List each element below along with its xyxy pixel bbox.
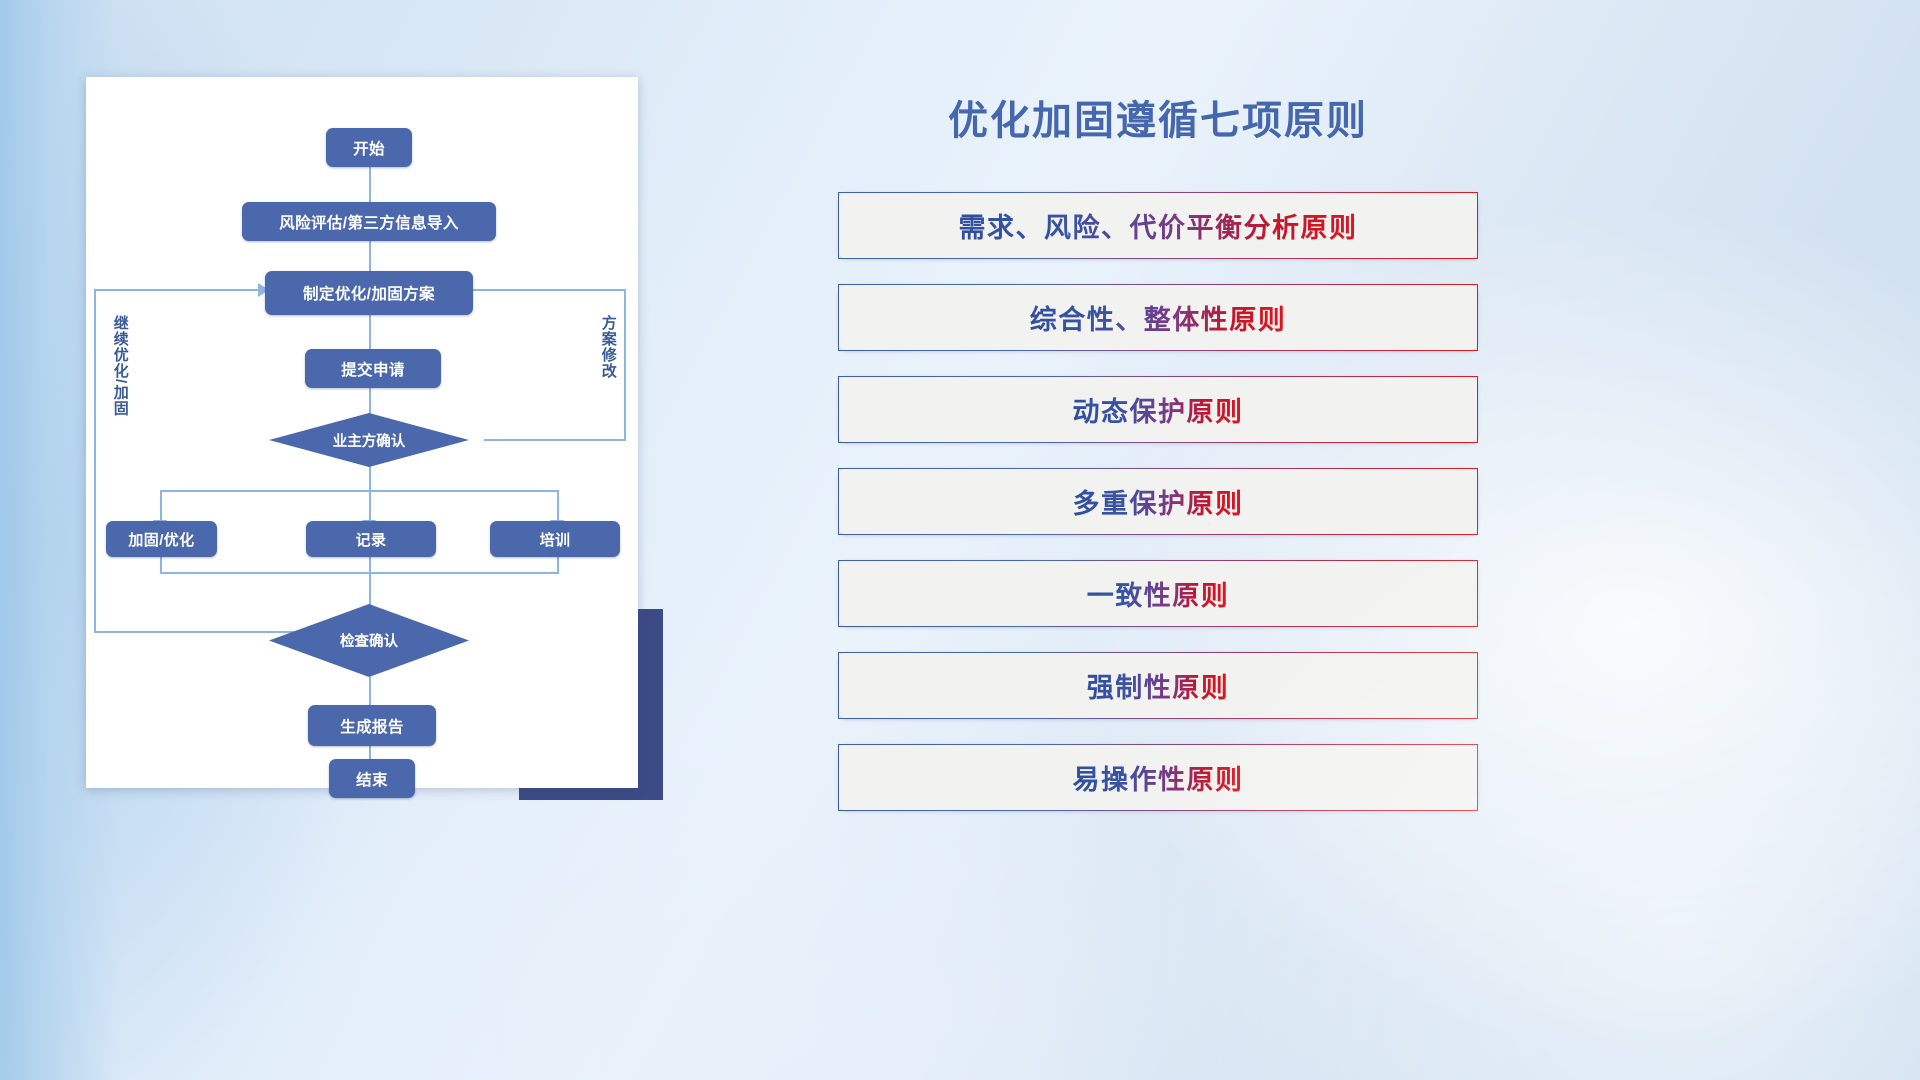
flow-node-owner-confirm-label: 业主方确认 <box>333 430 406 451</box>
principle-item[interactable]: 一致性原则 <box>838 560 1478 627</box>
edge-label-right-loop: 方案修改 <box>600 315 616 425</box>
edge-label-left-loop: 继续优化/加固 <box>112 315 128 445</box>
principles-list: 需求、风险、代价平衡分析原则 综合性、整体性原则 动态保护原则 多重保护原则 一… <box>838 192 1478 836</box>
flowchart-canvas: 继续优化/加固 方案修改 开始 风险评估/第三方信息导入 制定优化/加固方案 提… <box>86 77 638 788</box>
principle-label: 一致性原则 <box>1087 574 1230 613</box>
principles-title: 优化加固遵循七项原则 <box>838 88 1478 146</box>
flow-node-reinforce[interactable]: 加固/优化 <box>106 521 217 557</box>
principle-item[interactable]: 动态保护原则 <box>838 376 1478 443</box>
connector-merge-bus <box>160 572 559 574</box>
flow-node-submit[interactable]: 提交申请 <box>305 349 441 388</box>
principle-label: 易操作性原则 <box>1073 758 1244 797</box>
flow-node-risk-assessment[interactable]: 风险评估/第三方信息导入 <box>242 202 496 241</box>
principle-label: 强制性原则 <box>1087 666 1230 705</box>
connector-left-loop-vertical <box>94 289 96 633</box>
flow-node-start[interactable]: 开始 <box>326 128 412 167</box>
flow-node-training[interactable]: 培训 <box>490 521 620 557</box>
connector-left-loop-top <box>94 289 264 291</box>
principle-item[interactable]: 综合性、整体性原则 <box>838 284 1478 351</box>
flow-node-check-confirm-label: 检查确认 <box>340 630 398 651</box>
connector-right-loop-bottom <box>484 439 626 441</box>
flow-node-plan[interactable]: 制定优化/加固方案 <box>265 271 473 315</box>
principle-item[interactable]: 需求、风险、代价平衡分析原则 <box>838 192 1478 259</box>
flow-node-check-confirm[interactable]: 检查确认 <box>269 604 469 677</box>
flow-node-end[interactable]: 结束 <box>329 759 415 798</box>
principle-label: 需求、风险、代价平衡分析原则 <box>959 206 1358 245</box>
principle-item[interactable]: 易操作性原则 <box>838 744 1478 811</box>
connector-branch-bus <box>160 490 559 492</box>
slide-canvas: 继续优化/加固 方案修改 开始 风险评估/第三方信息导入 制定优化/加固方案 提… <box>0 0 1920 1080</box>
flow-node-report[interactable]: 生成报告 <box>308 705 436 746</box>
principle-item[interactable]: 强制性原则 <box>838 652 1478 719</box>
principle-label: 动态保护原则 <box>1073 390 1244 429</box>
flow-node-record[interactable]: 记录 <box>306 521 436 557</box>
principle-item[interactable]: 多重保护原则 <box>838 468 1478 535</box>
connector-right-loop-vertical <box>624 289 626 441</box>
principle-label: 综合性、整体性原则 <box>1030 298 1287 337</box>
flow-node-owner-confirm[interactable]: 业主方确认 <box>269 413 469 467</box>
principle-label: 多重保护原则 <box>1073 482 1244 521</box>
flowchart-card: 继续优化/加固 方案修改 开始 风险评估/第三方信息导入 制定优化/加固方案 提… <box>86 77 638 788</box>
